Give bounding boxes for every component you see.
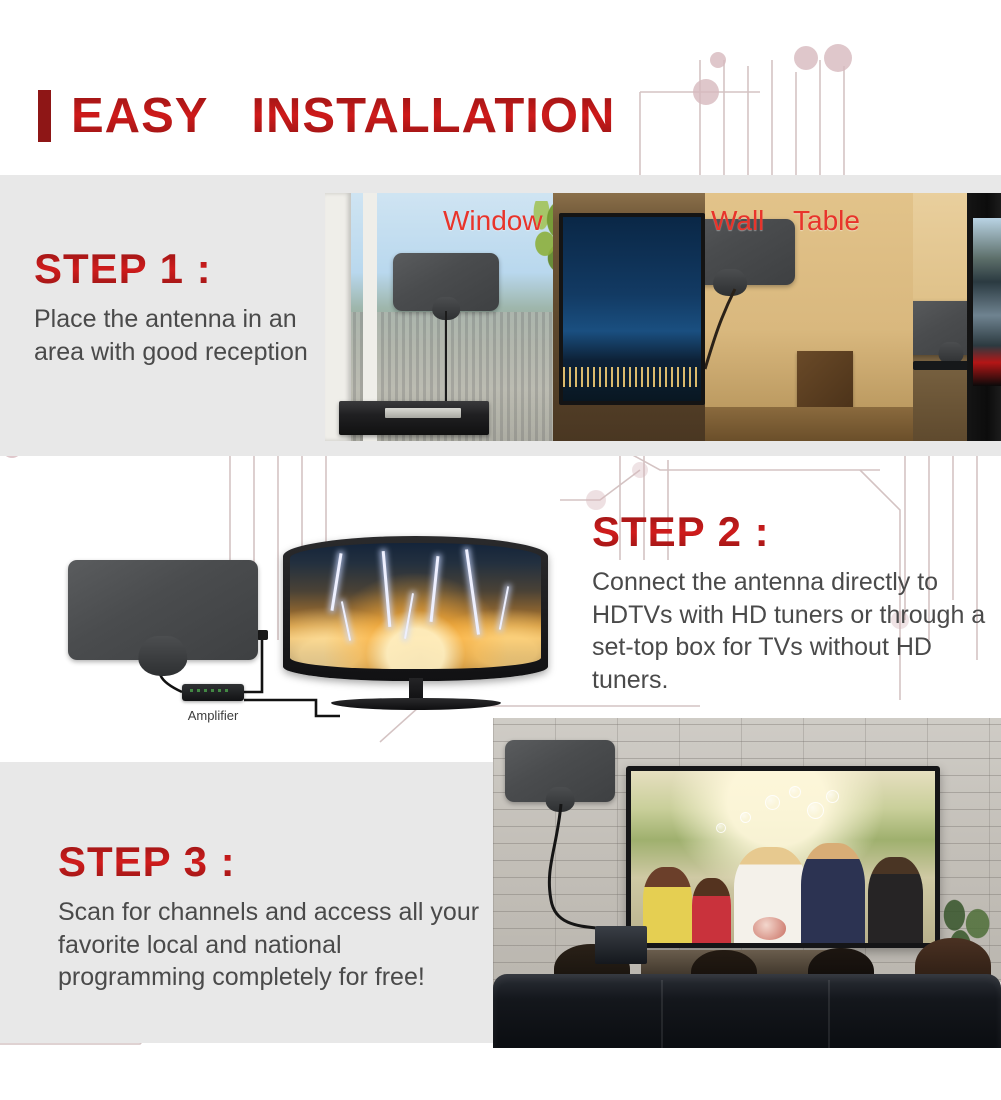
- groom: [801, 843, 865, 943]
- tv-screen-night-city: [559, 213, 705, 405]
- bubble: [740, 812, 751, 823]
- wall-mounted-tv: [626, 766, 940, 948]
- step-3-photo: [493, 718, 1001, 1048]
- bridal-bouquet: [753, 917, 786, 939]
- step-1-heading: STEP 1 :: [34, 245, 344, 293]
- amplifier-label: Amplifier: [148, 708, 278, 723]
- step-2-body: Connect the antenna directly to HDTVs wi…: [592, 566, 987, 696]
- guest-suit: [868, 857, 923, 943]
- guest-red-dress: [692, 878, 732, 943]
- step-1-text-block: STEP 1 : Place the antenna in an area wi…: [34, 245, 344, 368]
- step-2-diagram: Amplifier: [40, 520, 560, 740]
- tv-screen-lightning-storm: [290, 543, 541, 669]
- set-top-box: [339, 401, 489, 435]
- step-3-text-block: STEP 3 : Scan for channels and access al…: [58, 838, 488, 994]
- page-title: EASY INSTALLATION: [38, 88, 615, 144]
- title-accent-bar: [38, 90, 51, 142]
- step-2-text-block: STEP 2 : Connect the antenna directly to…: [592, 508, 987, 696]
- title-text: EASY INSTALLATION: [71, 88, 615, 144]
- antenna-foot: [138, 636, 187, 676]
- tv-edge-picture: [973, 218, 1001, 387]
- bubble: [807, 802, 824, 819]
- lightning-bolt: [382, 551, 392, 627]
- photo-label-wall: Wall: [711, 205, 764, 237]
- step-1-photo-strip: Window Wall Table: [325, 193, 1001, 441]
- tv-screen-wedding-scene: [631, 771, 935, 943]
- antenna-on-window: [393, 253, 499, 311]
- lightning-bolt: [430, 556, 440, 622]
- step-1-body: Place the antenna in an area with good r…: [34, 303, 344, 368]
- step-2-heading: STEP 2 :: [592, 508, 987, 556]
- step-3-heading: STEP 3 :: [58, 838, 488, 886]
- photo-label-table: Table: [793, 205, 860, 237]
- header: EASY INSTALLATION: [0, 0, 1001, 175]
- tv-edge-right: [967, 193, 1001, 441]
- amplifier-device: [182, 684, 244, 701]
- tv-stand-base: [331, 698, 501, 710]
- lightning-bolt: [465, 550, 480, 636]
- bubble: [765, 795, 780, 810]
- antenna-product: [68, 560, 258, 660]
- step-3-body: Scan for channels and access all your fa…: [58, 896, 488, 994]
- lightning-bolt: [404, 594, 414, 640]
- bubble: [826, 790, 839, 803]
- leather-sofa: [493, 974, 1001, 1048]
- curved-tv: [283, 528, 548, 718]
- tablet-device: [595, 926, 647, 964]
- bubble: [789, 786, 801, 798]
- tv-wall-scene: [553, 193, 711, 441]
- lightning-bolt: [341, 601, 351, 641]
- lightning-bolt: [499, 586, 509, 630]
- bubble: [716, 823, 726, 833]
- photo-label-window: Window: [443, 205, 543, 237]
- photo-tv-night: [553, 193, 711, 441]
- guest-yellow-dress: [643, 867, 692, 943]
- infographic-page: EASY INSTALLATION STEP 1 : Place the ant…: [0, 0, 1001, 1100]
- photo-table-placement: [913, 193, 1001, 441]
